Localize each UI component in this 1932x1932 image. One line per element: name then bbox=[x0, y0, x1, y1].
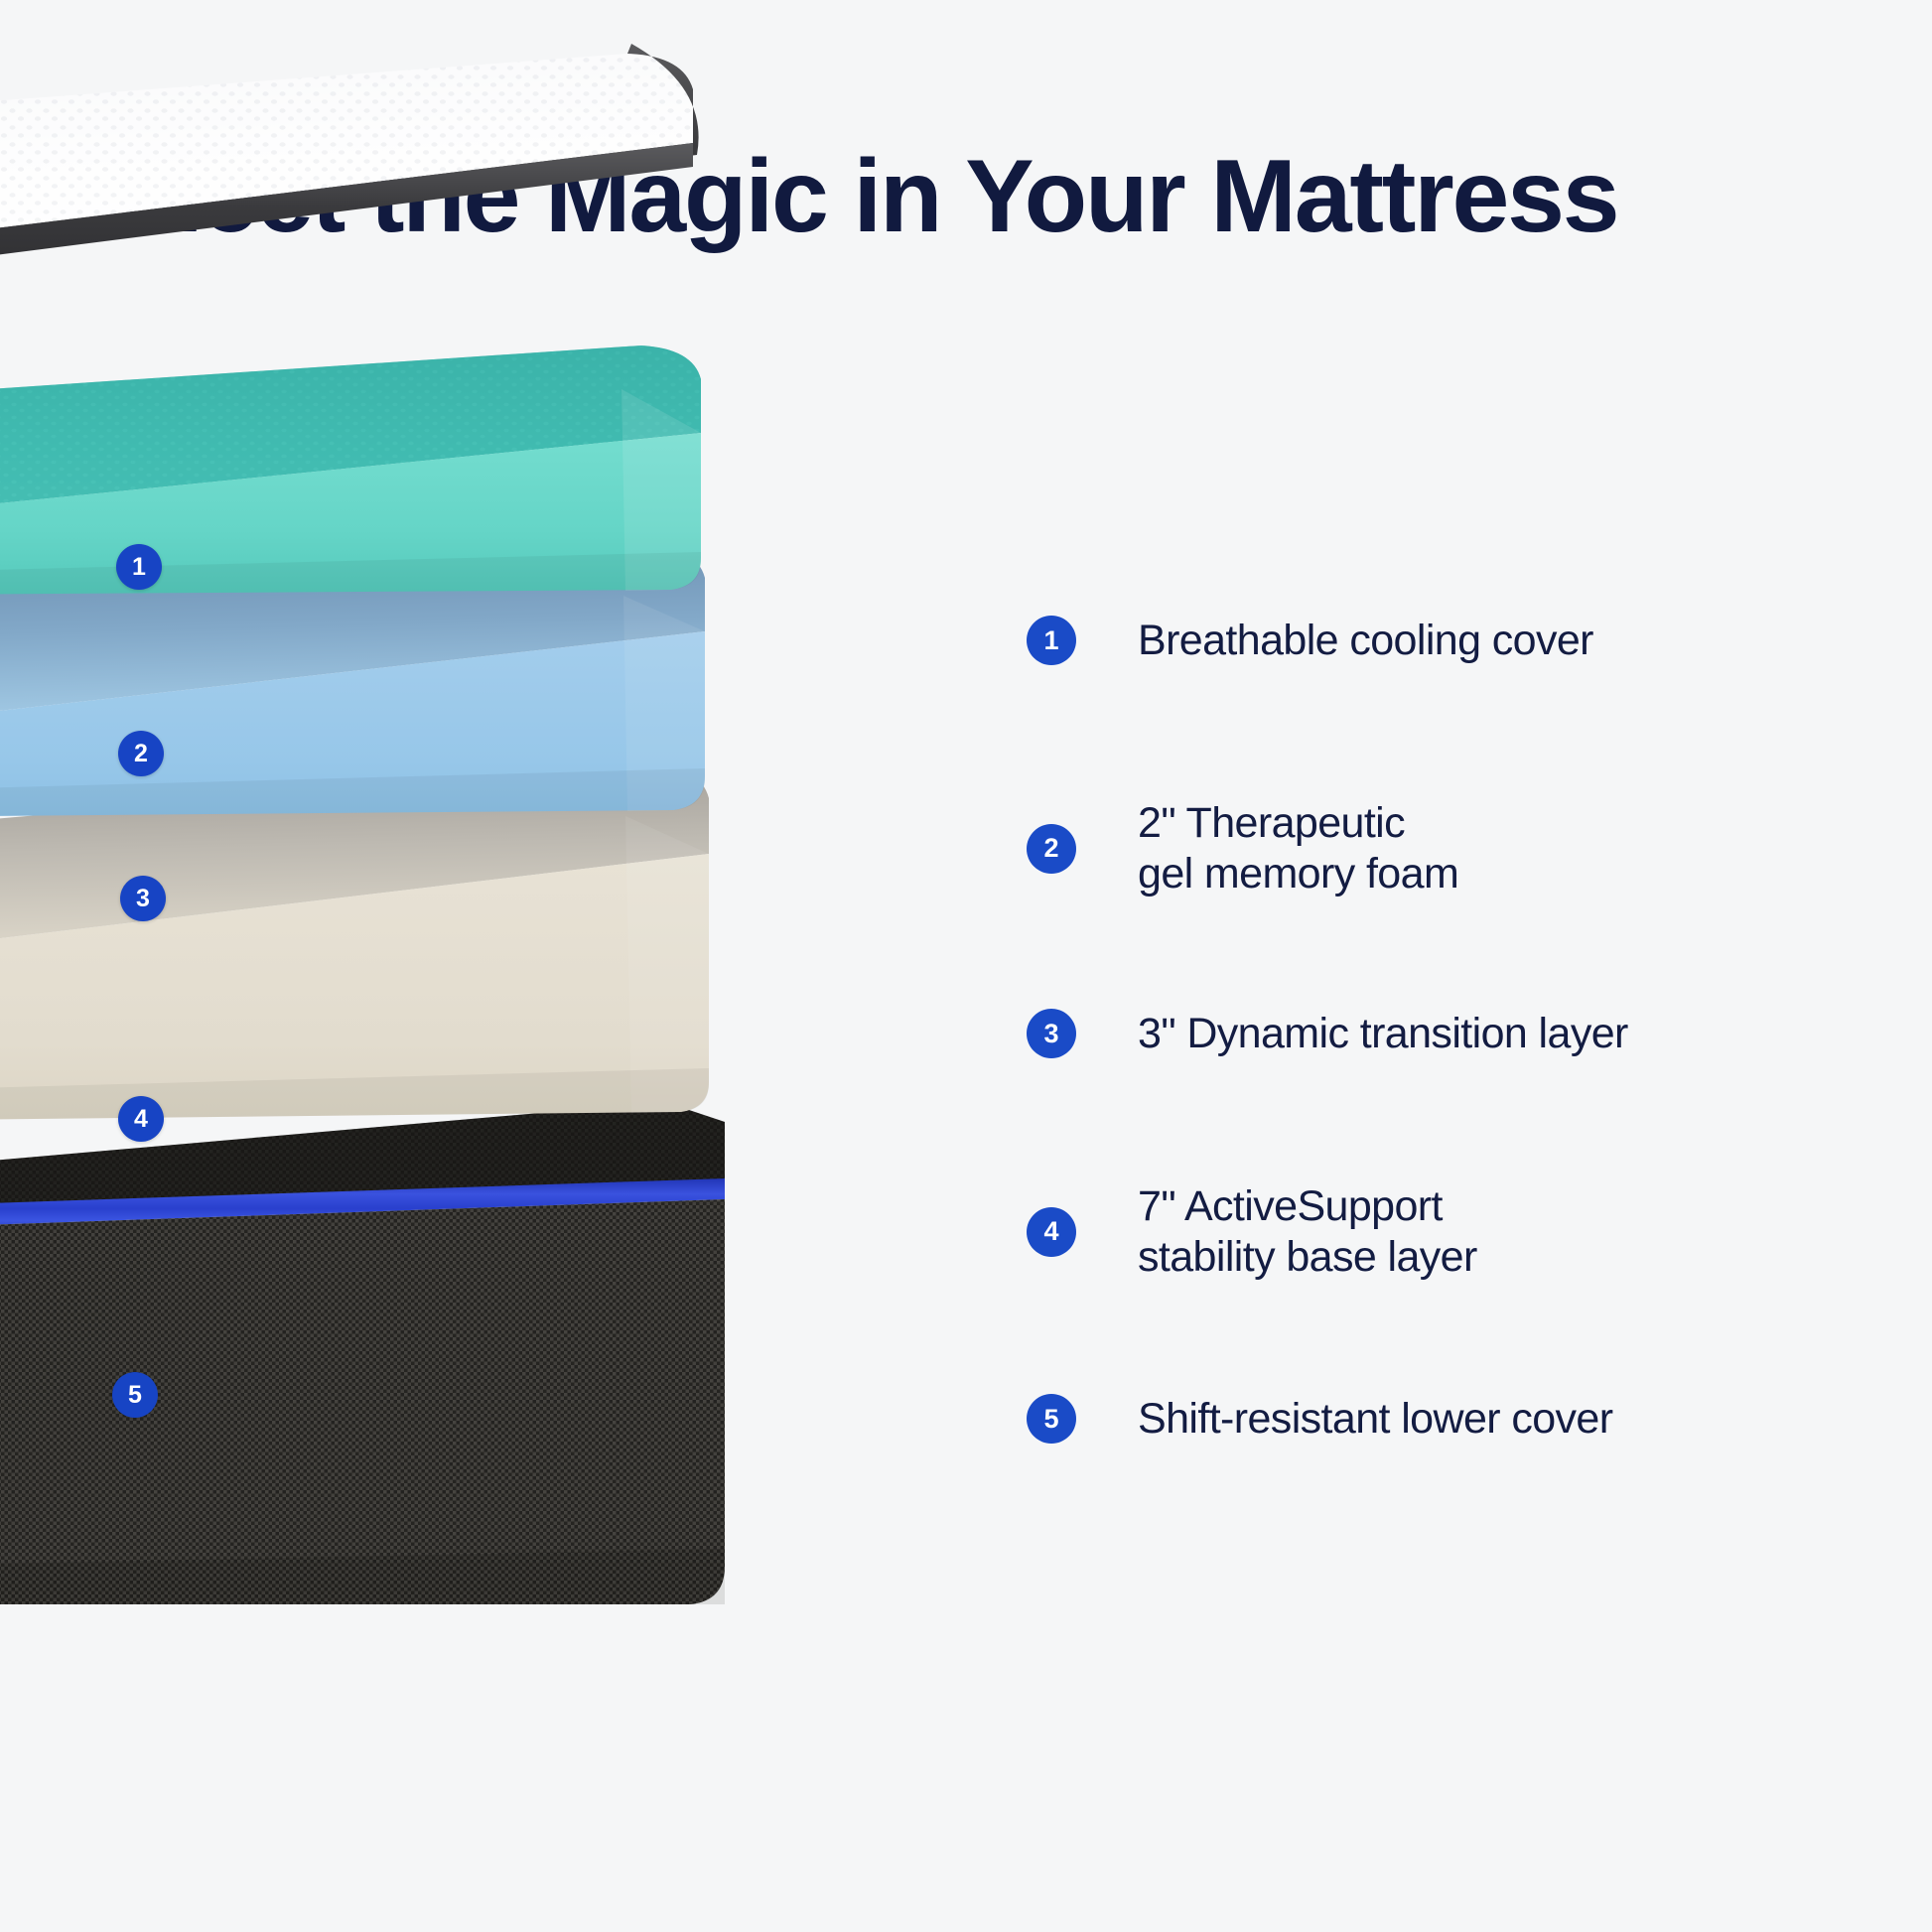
legend-badge-1: 1 bbox=[1027, 616, 1076, 665]
pin-3: 3 bbox=[120, 876, 166, 921]
legend-label-1: Breathable cooling cover bbox=[1138, 616, 1593, 666]
infographic-canvas: Meet the Magic in Your Mattress bbox=[0, 0, 1932, 1932]
legend-item-5[interactable]: 5 Shift-resistant lower cover bbox=[1027, 1394, 1612, 1445]
legend-item-1[interactable]: 1 Breathable cooling cover bbox=[1027, 616, 1593, 666]
layer-5-shift-resistant-lower-cover bbox=[0, 1102, 725, 1604]
layer-1-breathable-cooling-cover bbox=[0, 44, 699, 310]
legend-item-3[interactable]: 3 3" Dynamic transition layer bbox=[1027, 1009, 1628, 1059]
layer-4-activesupport-stability-base bbox=[0, 762, 709, 1122]
layer-2-therapeutic-gel-memory-foam bbox=[0, 345, 701, 596]
mattress-layer-diagram: 1 2 3 4 5 bbox=[0, 427, 953, 1777]
pin-5: 5 bbox=[112, 1372, 158, 1418]
legend-badge-3: 3 bbox=[1027, 1009, 1076, 1058]
legend-badge-4: 4 bbox=[1027, 1207, 1076, 1257]
legend-label-3: 3" Dynamic transition layer bbox=[1138, 1009, 1628, 1059]
legend-label-4: 7" ActiveSupport stability base layer bbox=[1138, 1181, 1477, 1282]
pin-4: 4 bbox=[118, 1096, 164, 1142]
legend-badge-2: 2 bbox=[1027, 824, 1076, 874]
legend-item-2[interactable]: 2 2" Therapeutic gel memory foam bbox=[1027, 798, 1458, 898]
pin-1: 1 bbox=[116, 544, 162, 590]
legend-label-2: 2" Therapeutic gel memory foam bbox=[1138, 798, 1458, 898]
pin-2: 2 bbox=[118, 731, 164, 776]
legend-label-5: Shift-resistant lower cover bbox=[1138, 1394, 1612, 1445]
legend-badge-5: 5 bbox=[1027, 1394, 1076, 1444]
legend-item-4[interactable]: 4 7" ActiveSupport stability base layer bbox=[1027, 1181, 1477, 1282]
